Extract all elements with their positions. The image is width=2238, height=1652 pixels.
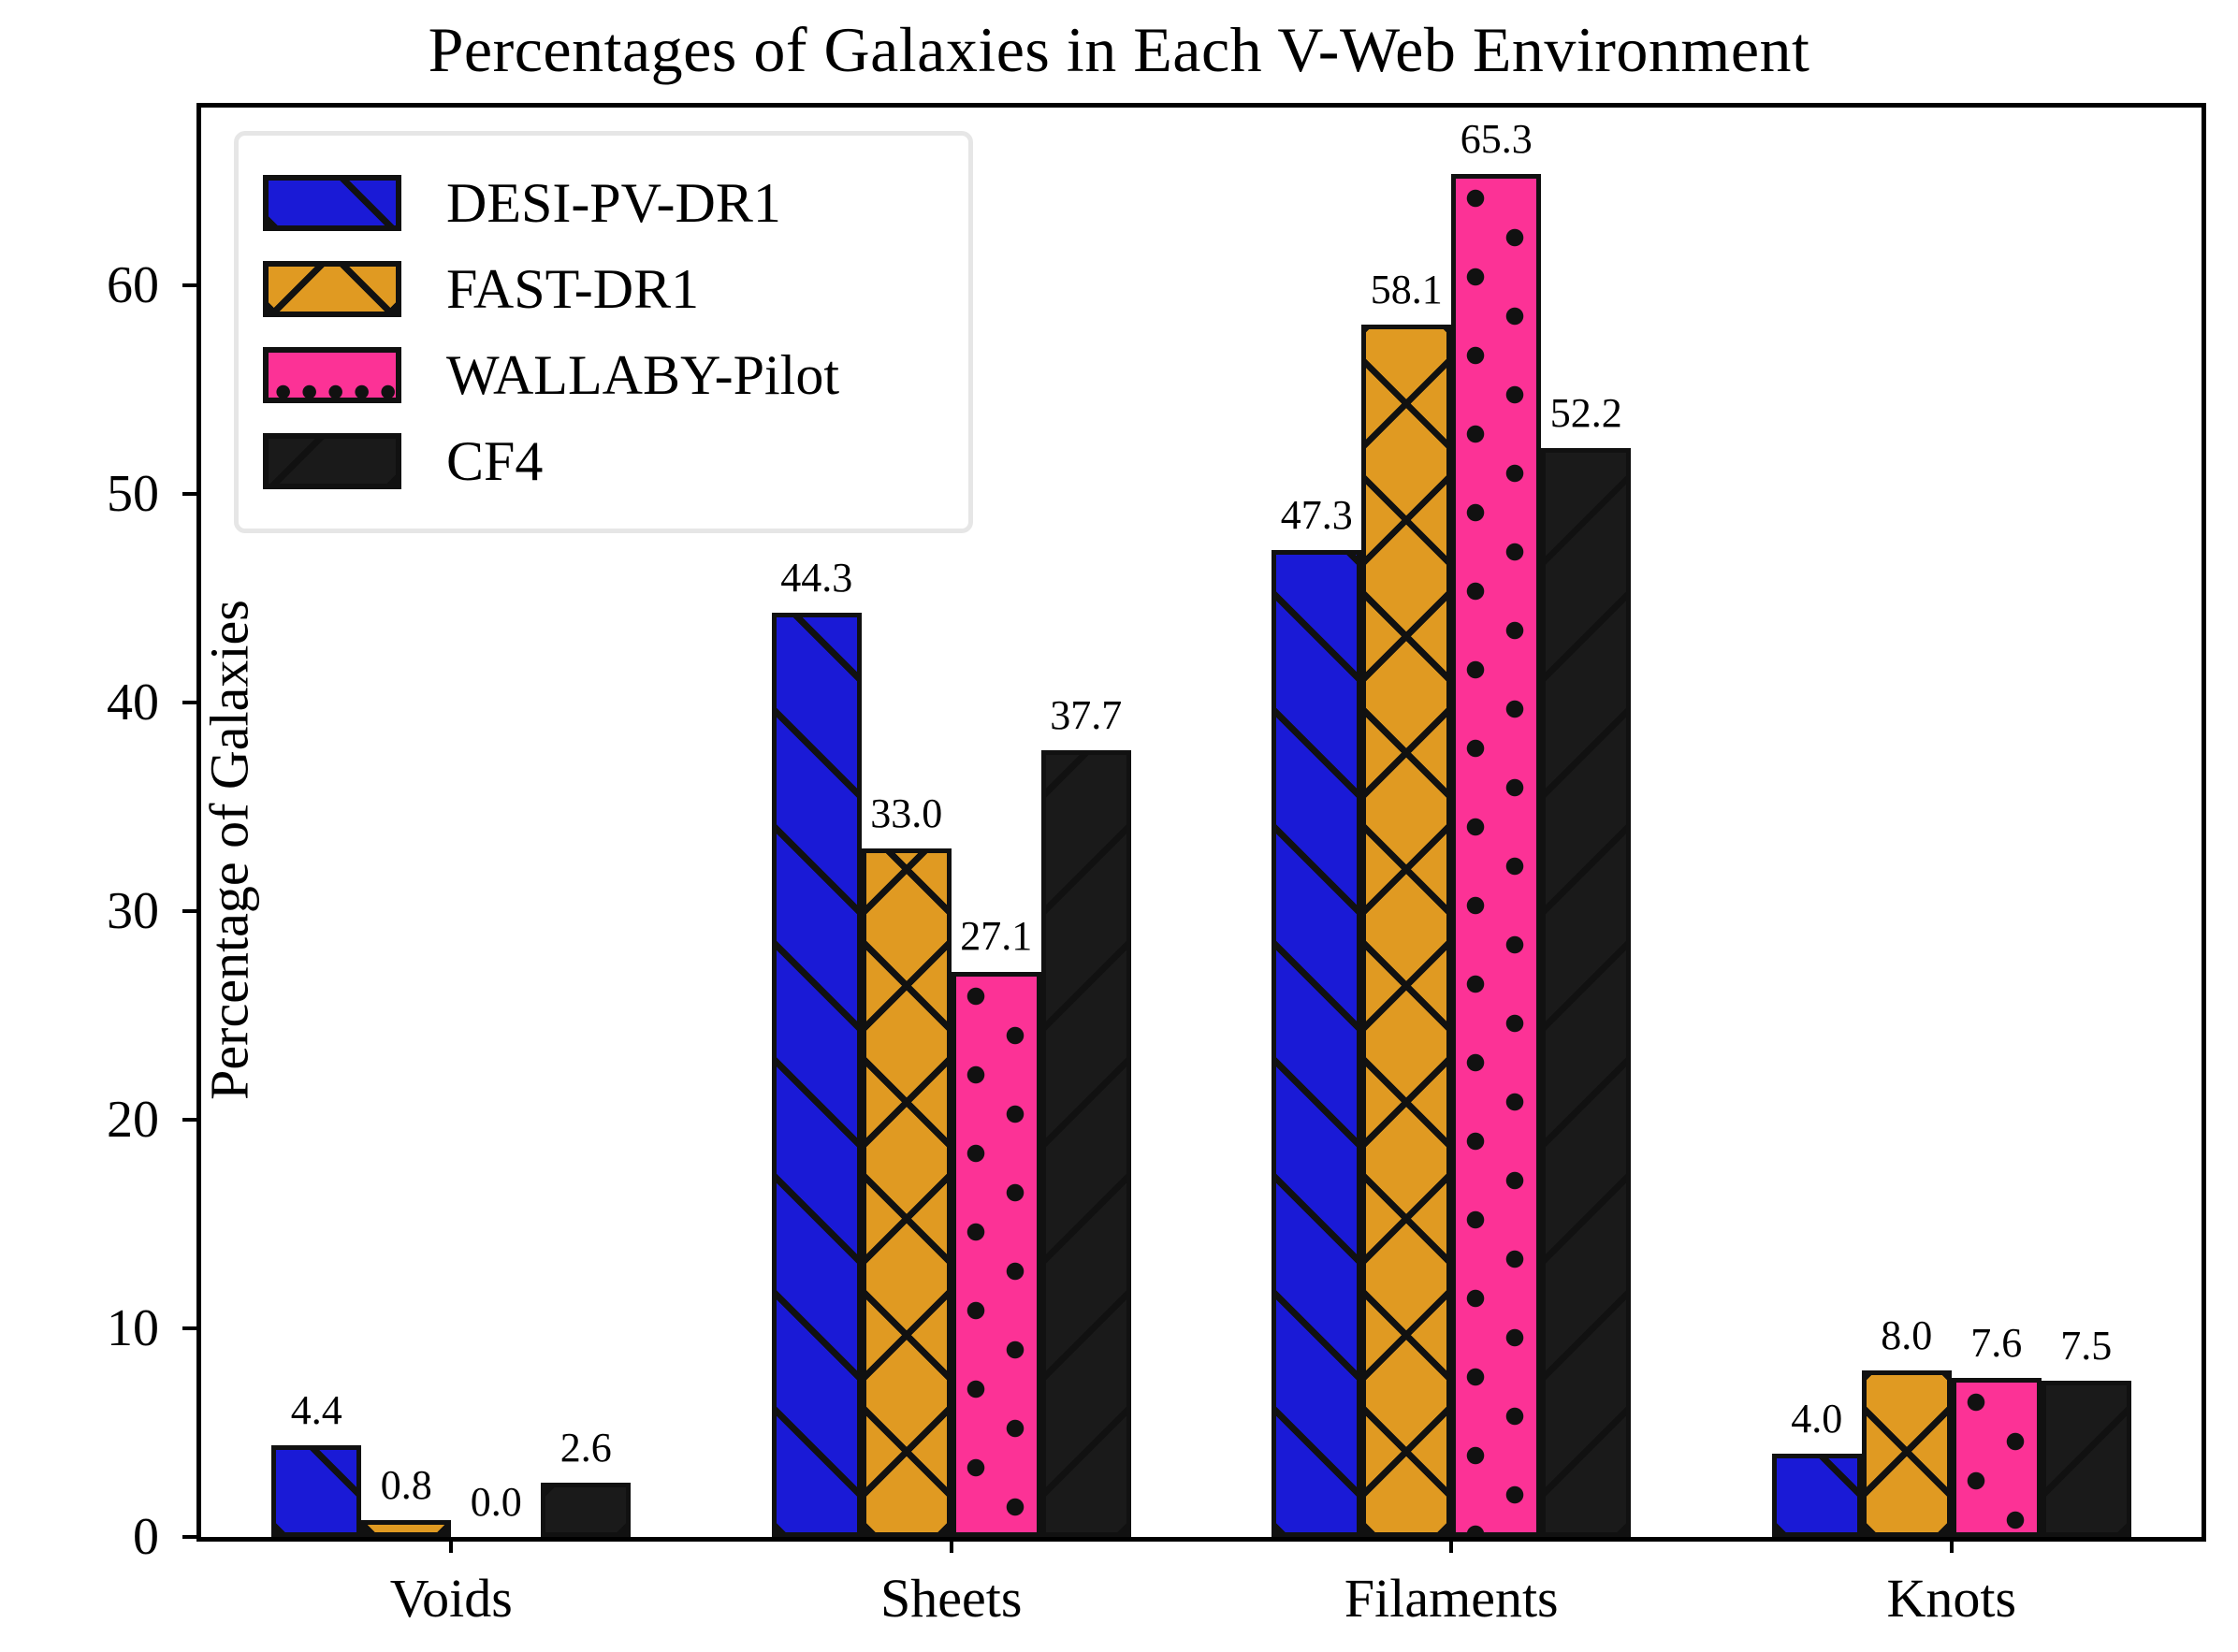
bar-value-label: 27.1 [960,915,1032,958]
y-tick-mark [182,701,198,704]
bar [1451,174,1541,1537]
x-tick-mark [1449,1537,1453,1553]
bar-value-label: 52.2 [1550,392,1622,435]
y-tick-label: 30 [0,885,159,937]
y-tick-mark [182,1535,198,1539]
y-tick-mark [182,492,198,496]
legend-item-desi-pv-dr1[interactable]: DESI-PV-DR1 [263,160,940,246]
bar [862,848,952,1537]
legend-swatch-desi-pv-dr1 [263,175,401,231]
bar [1361,325,1451,1537]
y-tick-mark [182,1118,198,1122]
bar-value-label: 65.3 [1461,118,1533,161]
legend-label: WALLABY-Pilot [446,345,839,405]
bar-value-label: 4.4 [291,1389,342,1432]
bar-value-label: 44.3 [780,557,852,600]
legend-item-fast-dr1[interactable]: FAST-DR1 [263,246,940,332]
bar-value-label: 7.5 [2060,1325,2112,1368]
y-tick-label: 0 [0,1511,159,1563]
y-tick-mark [182,1326,198,1330]
bar [1041,750,1131,1537]
bar [541,1483,631,1537]
legend: DESI-PV-DR1FAST-DR1WALLABY-PilotCF4 [234,131,973,533]
legend-item-wallaby-pilot[interactable]: WALLABY-Pilot [263,332,940,418]
legend-label: CF4 [446,431,543,491]
x-tick-mark [1950,1537,1954,1553]
bar-value-label: 0.0 [471,1481,522,1524]
page-title: Percentages of Galaxies in Each V-Web En… [0,13,2238,86]
bar [2042,1381,2131,1537]
y-tick-label: 10 [0,1302,159,1355]
bar [361,1520,451,1537]
x-tick-mark [449,1537,453,1553]
bar [952,972,1041,1538]
x-tick-mark [950,1537,953,1553]
bar-value-label: 47.3 [1281,494,1353,537]
x-tick-label-voids: Voids [390,1571,513,1627]
legend-label: DESI-PV-DR1 [446,173,781,233]
legend-label: FAST-DR1 [446,259,699,319]
bar [1862,1370,1952,1537]
bar-value-label: 7.6 [1970,1322,2022,1365]
bar-value-label: 4.0 [1791,1398,1842,1441]
x-tick-label-sheets: Sheets [880,1571,1022,1627]
y-tick-mark [182,283,198,287]
bar-value-label: 2.6 [560,1427,612,1470]
bar-value-label: 58.1 [1371,268,1443,312]
chart-figure: Percentages of Galaxies in Each V-Web En… [0,0,2238,1652]
bar-value-label: 37.7 [1050,694,1122,737]
bar-value-label: 33.0 [870,792,942,835]
x-tick-label-filaments: Filaments [1344,1571,1559,1627]
bar-value-label: 0.8 [381,1464,432,1507]
bar [1272,550,1361,1537]
legend-item-cf4[interactable]: CF4 [263,418,940,504]
legend-swatch-fast-dr1 [263,261,401,317]
y-tick-label: 60 [0,259,159,312]
bar [772,613,862,1537]
bar-value-label: 8.0 [1881,1314,1932,1357]
y-tick-label: 50 [0,468,159,520]
legend-swatch-cf4 [263,433,401,489]
bar [1952,1378,2042,1537]
y-tick-label: 40 [0,676,159,729]
bar [271,1445,361,1537]
legend-swatch-wallaby-pilot [263,347,401,403]
y-tick-label: 20 [0,1094,159,1146]
bar [1772,1454,1862,1537]
bar [1541,448,1631,1537]
y-tick-mark [182,909,198,913]
x-tick-label-knots: Knots [1886,1571,2016,1627]
